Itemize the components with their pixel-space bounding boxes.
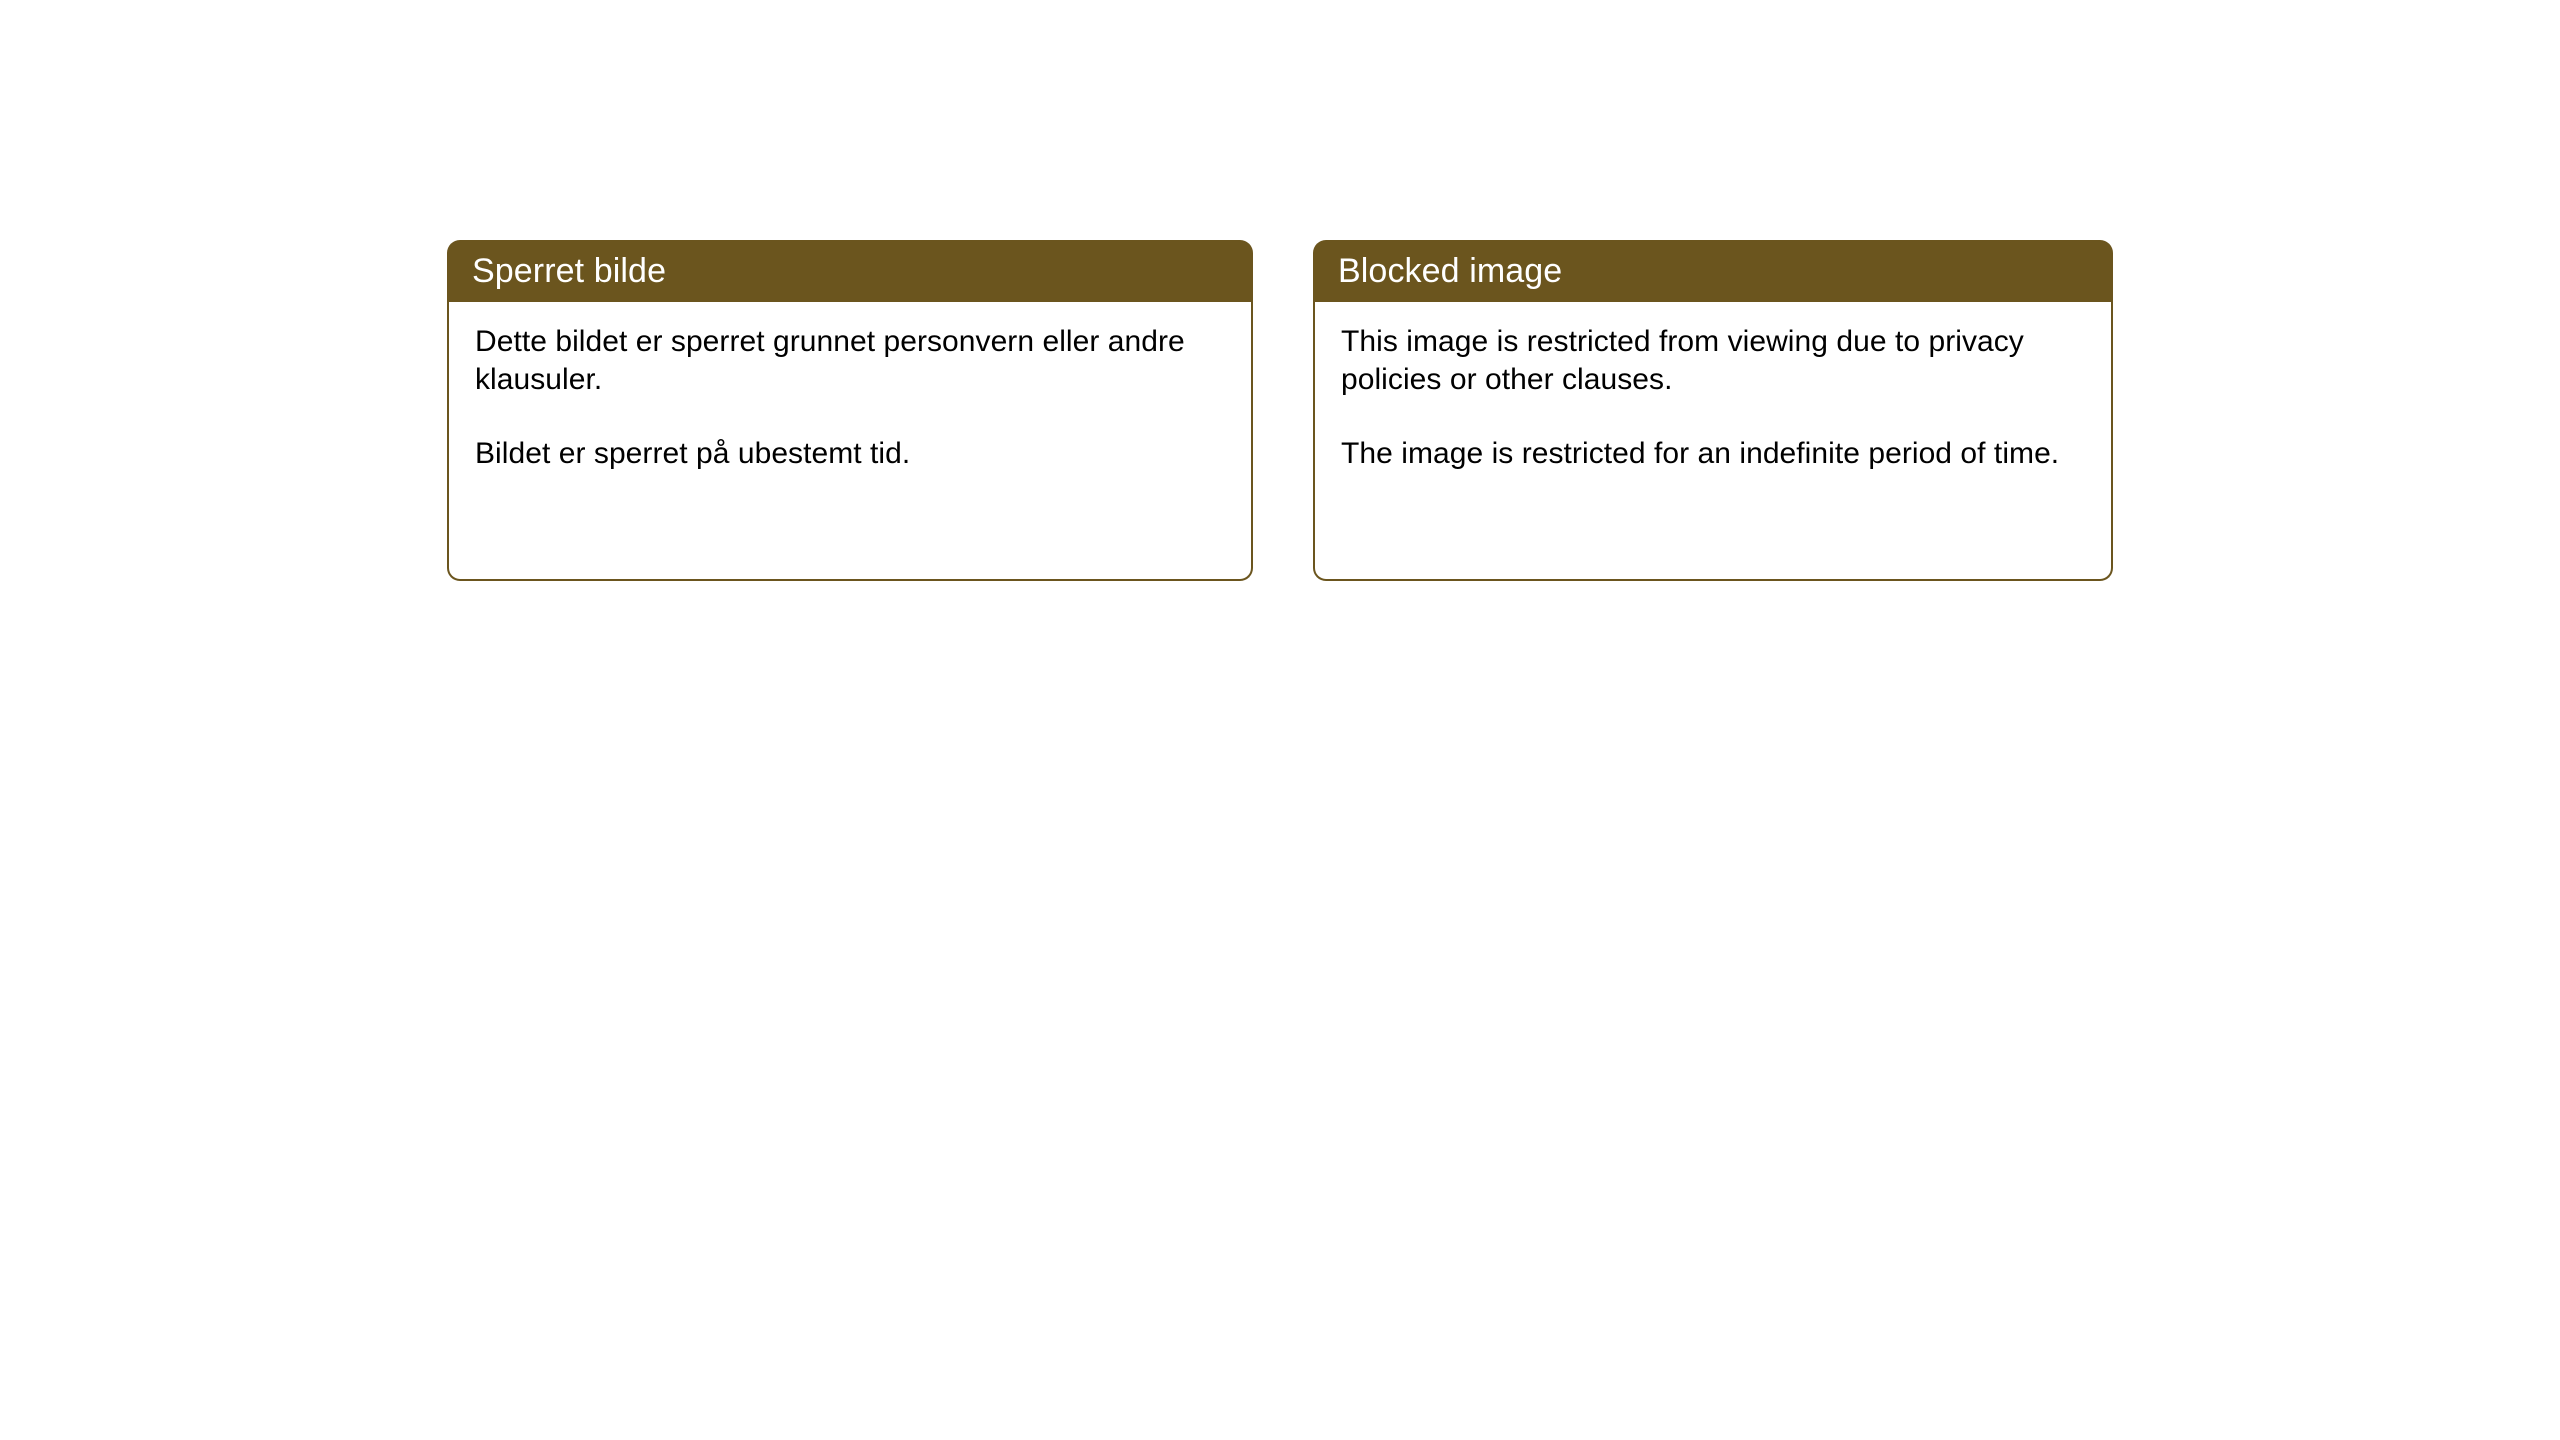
blocked-image-notice-group: Sperret bilde Dette bildet er sperret gr… (447, 240, 2113, 581)
card-header-norwegian: Sperret bilde (447, 240, 1253, 302)
card-body-norwegian: Dette bildet er sperret grunnet personve… (447, 301, 1253, 581)
card-title-english: Blocked image (1338, 254, 1562, 288)
card-body-english: This image is restricted from viewing du… (1313, 301, 2113, 581)
card-paragraph-primary-norwegian: Dette bildet er sperret grunnet personve… (475, 323, 1225, 399)
card-title-norwegian: Sperret bilde (472, 254, 666, 288)
card-paragraph-primary-english: This image is restricted from viewing du… (1341, 323, 2085, 399)
card-header-english: Blocked image (1313, 240, 2113, 302)
blocked-image-card-norwegian: Sperret bilde Dette bildet er sperret gr… (447, 240, 1253, 581)
blocked-image-card-english: Blocked image This image is restricted f… (1313, 240, 2113, 581)
card-paragraph-secondary-norwegian: Bildet er sperret på ubestemt tid. (475, 435, 1225, 473)
card-paragraph-secondary-english: The image is restricted for an indefinit… (1341, 435, 2085, 473)
